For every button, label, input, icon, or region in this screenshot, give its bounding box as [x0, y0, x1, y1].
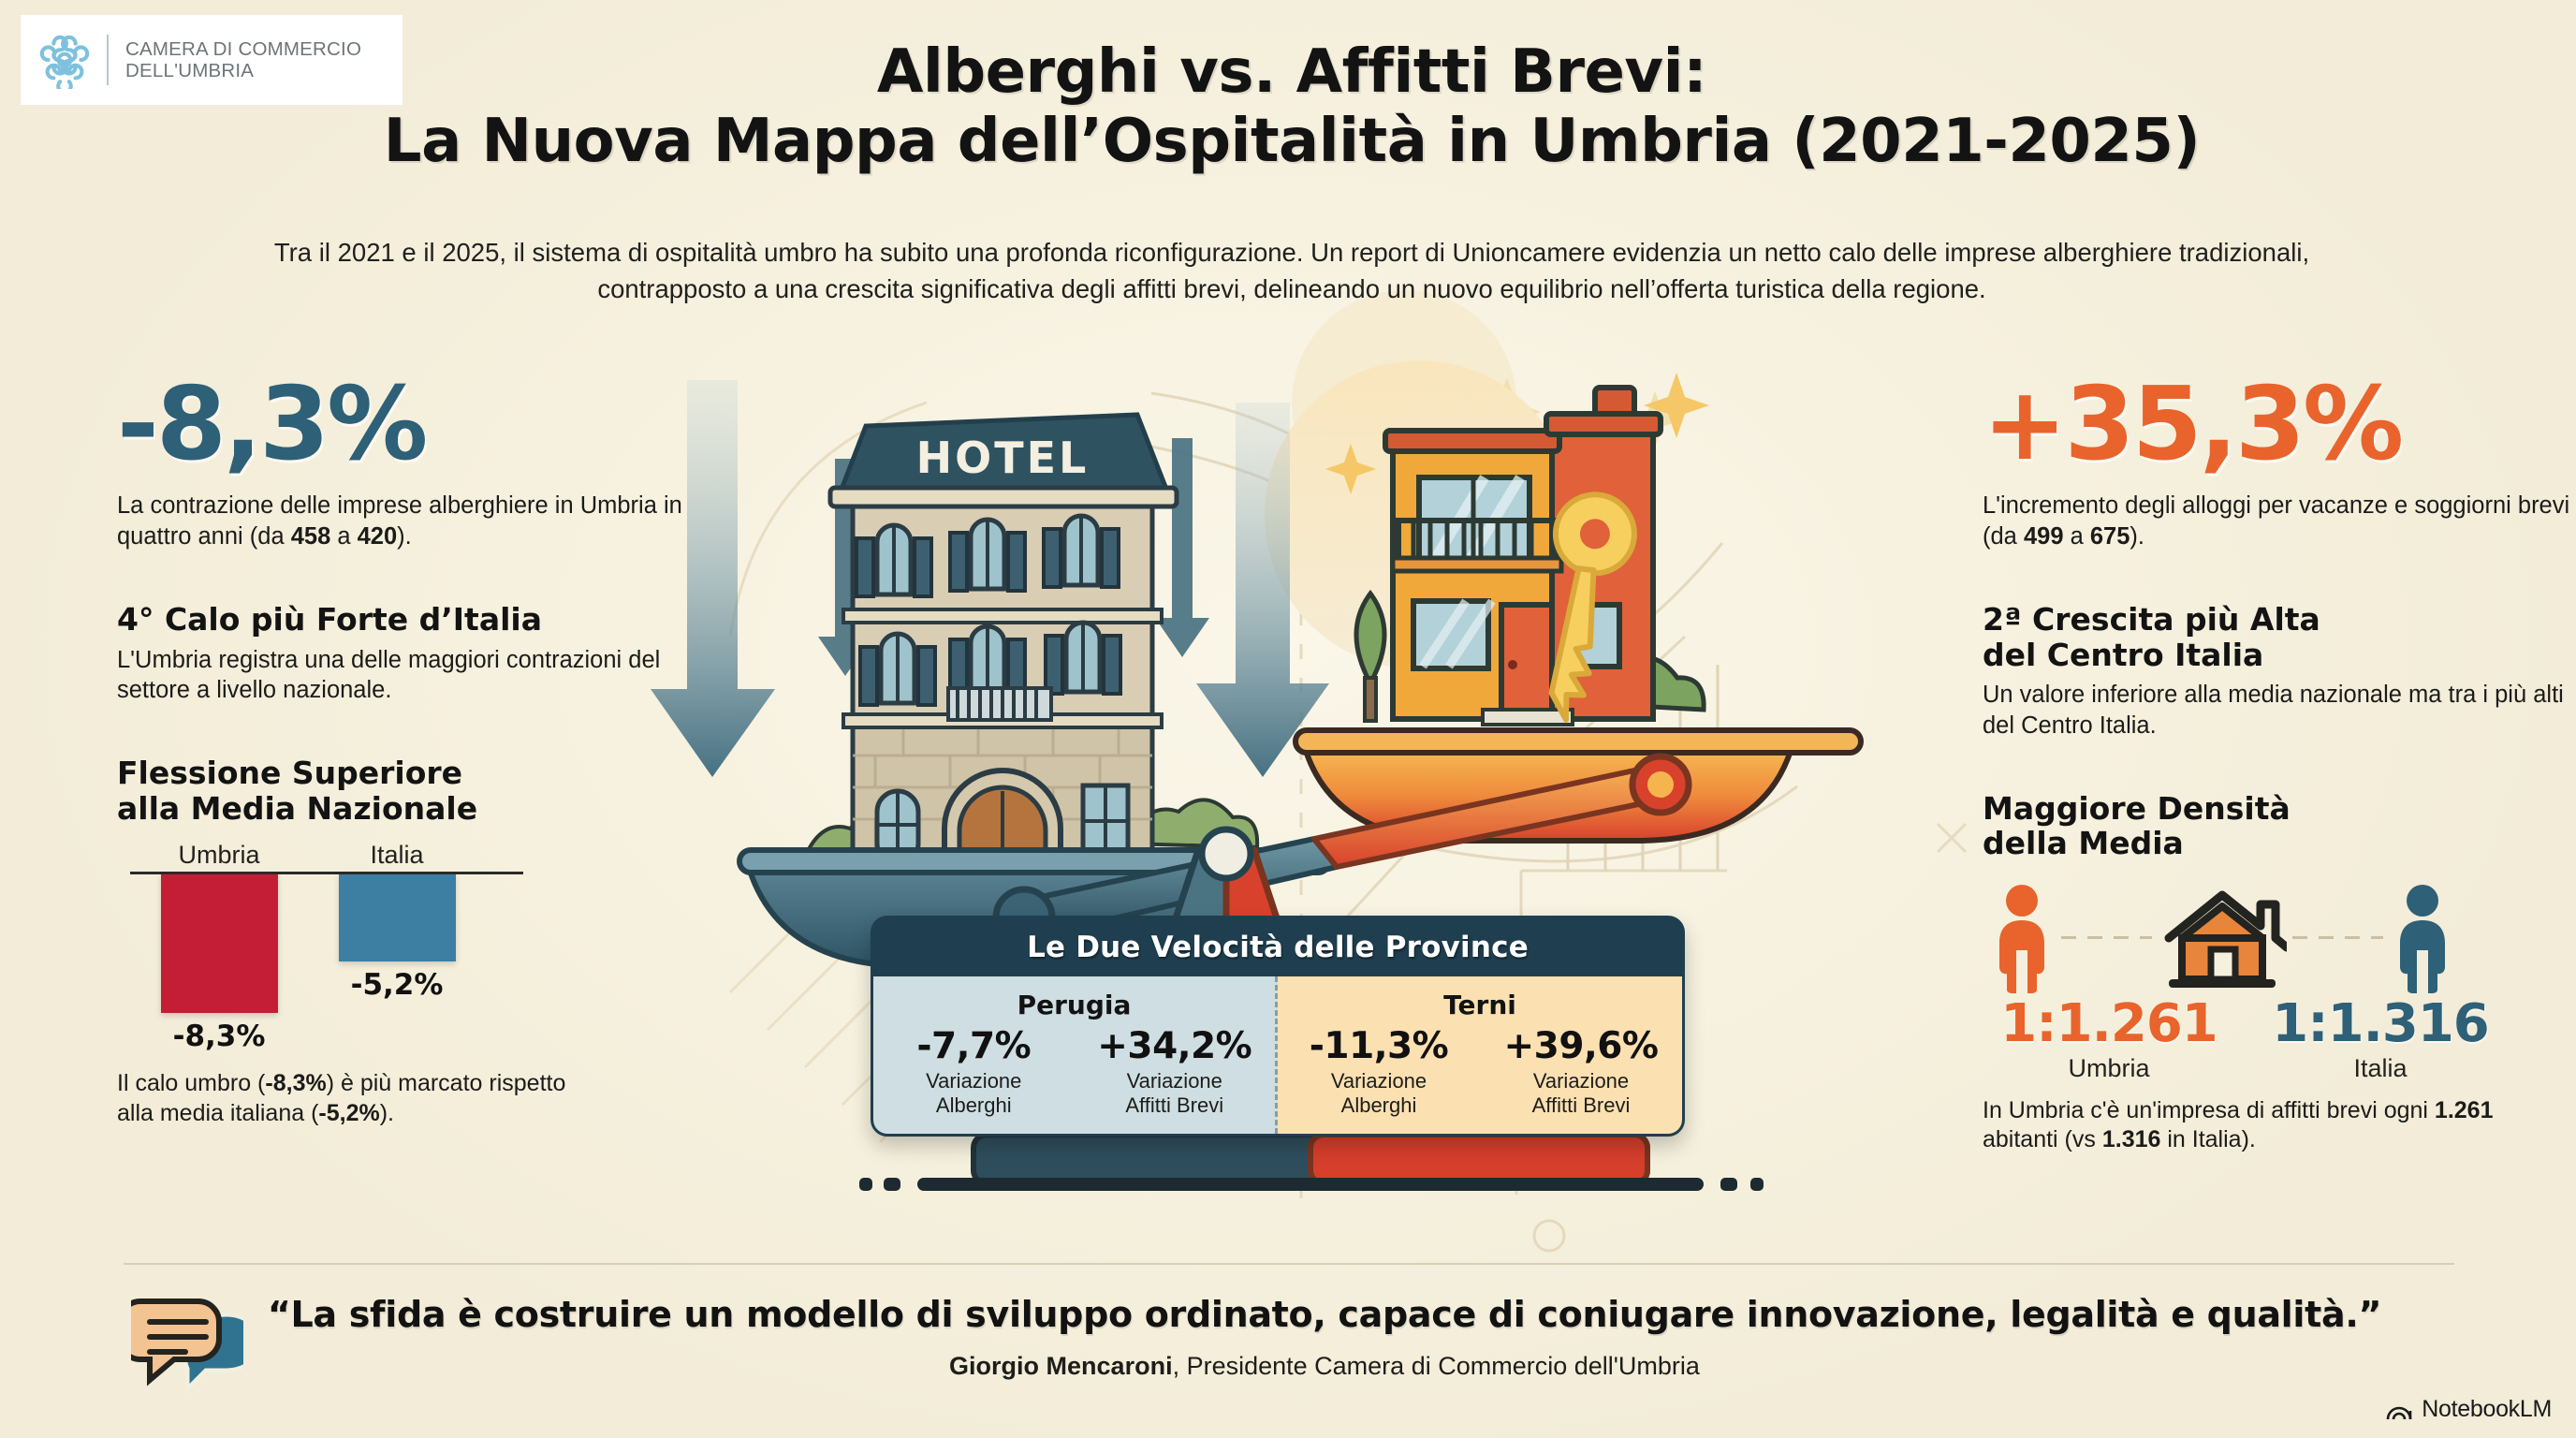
perugia-affitti-metric: +34,2% VariazioneAffitti Brevi	[1075, 1028, 1276, 1117]
left-headline-stat: -8,3%	[117, 374, 716, 476]
province-terni-metrics: -11,3% VariazioneAlberghi +39,6% Variazi…	[1278, 1028, 1682, 1117]
title-line-2: La Nuova Mappa dell’Ospitalità in Umbria…	[281, 107, 2303, 176]
person-icon	[2389, 883, 2456, 993]
speech-bubbles-icon	[131, 1294, 243, 1395]
province-comparison-panel: Le Due Velocità delle Province Perugia -…	[871, 916, 1685, 1137]
person-icon	[1988, 883, 2056, 993]
quote-attribution: Giorgio Mencaroni, Presidente Camera di …	[253, 1352, 2396, 1381]
right-headline-stat: +35,3%	[1983, 374, 2576, 476]
terni-alberghi-value: -11,3%	[1278, 1028, 1480, 1064]
right-headline-caption: L'incremento degli alloggi per vacanze e…	[1983, 491, 2576, 551]
density-values-row: 1:1.261 Umbria 1:1.316 Italia	[1983, 998, 2507, 1083]
terni-alberghi-label: VariazioneAlberghi	[1278, 1069, 1480, 1117]
left-column: -8,3% La contrazione delle imprese alber…	[117, 374, 716, 1128]
density-icon-row	[1988, 882, 2456, 994]
hotel-sign-text: HOTEL	[916, 433, 1090, 483]
province-panel-title: Le Due Velocità delle Province	[873, 918, 1682, 976]
page-subtitle: Tra il 2021 e il 2025, il sistema di osp…	[206, 234, 2378, 307]
terni-alberghi-metric: -11,3% VariazioneAlberghi	[1278, 1028, 1480, 1117]
right-block-density: Maggiore Densitàdella Media	[1983, 791, 2576, 1155]
logo-divider	[107, 35, 109, 85]
left-block-ranking: 4° Calo più Forte d’Italia L'Umbria regi…	[117, 602, 716, 705]
left-block-chart: Flessione Superiorealla Media Nazionale …	[117, 756, 716, 1128]
title-line-1: Alberghi vs. Affitti Brevi:	[281, 37, 2303, 107]
bar-group-umbria: -8,3%	[130, 874, 308, 1062]
perugia-alberghi-metric: -7,7% VariazioneAlberghi	[873, 1028, 1075, 1117]
left-block-chart-title: Flessione Superiorealla Media Nazionale	[117, 756, 716, 826]
bar-value-umbria: -8,3%	[173, 1020, 266, 1053]
density-note: In Umbria c'è un'impresa di affitti brev…	[1983, 1096, 2544, 1155]
footer-divider	[124, 1263, 2454, 1265]
bar-chart-note: Il calo umbro (-8,3%) è più marcato risp…	[117, 1069, 604, 1128]
flessione-bar-chart: Umbria Italia -8,3% -5,2%	[117, 841, 557, 1062]
bar-value-italia: -5,2%	[351, 968, 444, 1002]
left-headline-caption: La contrazione delle imprese alberghiere…	[117, 491, 716, 551]
right-block-density-title: Maggiore Densitàdella Media	[1983, 791, 2576, 861]
density-italia-value: 1:1.316	[2254, 998, 2507, 1050]
right-block-ranking-title: 2ª Crescita più Altadel Centro Italia	[1983, 602, 2576, 672]
terni-affitti-label: VariazioneAffitti Brevi	[1480, 1069, 1682, 1117]
bar-italia	[339, 874, 456, 961]
left-block-ranking-title: 4° Calo più Forte d’Italia	[117, 602, 716, 638]
page-title: Alberghi vs. Affitti Brevi: La Nuova Map…	[281, 37, 2303, 176]
house-icon	[2158, 882, 2287, 994]
perugia-affitti-value: +34,2%	[1075, 1028, 1276, 1064]
notebooklm-watermark: NotebookLM	[2385, 1396, 2552, 1423]
umbria-knot-logo-icon	[36, 31, 94, 89]
perugia-alberghi-label: VariazioneAlberghi	[873, 1069, 1075, 1117]
province-perugia-name: Perugia	[873, 990, 1275, 1020]
left-block-ranking-text: L'Umbria registra una delle maggiori con…	[117, 645, 716, 705]
pull-quote: “La sfida è costruire un modello di svil…	[253, 1294, 2396, 1335]
density-umbria: 1:1.261 Umbria	[1983, 998, 2235, 1083]
bar-chart-category-labels: Umbria Italia	[130, 841, 523, 870]
notebooklm-icon	[2385, 1398, 2413, 1422]
density-connector-left	[2061, 936, 2152, 939]
bar-group-italia: -5,2%	[308, 874, 486, 1062]
bar-umbria	[161, 874, 278, 1013]
right-block-ranking: 2ª Crescita più Altadel Centro Italia Un…	[1983, 602, 2576, 740]
province-terni-name: Terni	[1278, 990, 1682, 1020]
density-italia-label: Italia	[2254, 1054, 2507, 1083]
province-panel-body: Perugia -7,7% VariazioneAlberghi +34,2% …	[873, 976, 1682, 1134]
right-column: +35,3% L'incremento degli alloggi per va…	[1983, 374, 2576, 1155]
hotel-balcony	[948, 688, 1051, 720]
density-umbria-label: Umbria	[1983, 1054, 2235, 1083]
density-italia: 1:1.316 Italia	[2254, 998, 2507, 1083]
perugia-alberghi-value: -7,7%	[873, 1028, 1075, 1064]
province-perugia-metrics: -7,7% VariazioneAlberghi +34,2% Variazio…	[873, 1028, 1275, 1117]
bar-label-italia: Italia	[308, 841, 486, 870]
bar-chart-bars: -8,3% -5,2%	[130, 874, 523, 1062]
density-figure: 1:1.261 Umbria 1:1.316 Italia In Umbria …	[1983, 882, 2525, 1155]
province-perugia: Perugia -7,7% VariazioneAlberghi +34,2% …	[873, 976, 1278, 1134]
notebooklm-label: NotebookLM	[2422, 1396, 2552, 1423]
terni-affitti-value: +39,6%	[1480, 1028, 1682, 1064]
province-terni: Terni -11,3% VariazioneAlberghi +39,6% V…	[1278, 976, 1682, 1134]
bar-label-umbria: Umbria	[130, 841, 308, 870]
right-block-ranking-text: Un valore inferiore alla media nazionale…	[1983, 680, 2576, 740]
terni-affitti-metric: +39,6% VariazioneAffitti Brevi	[1480, 1028, 1682, 1117]
density-umbria-value: 1:1.261	[1983, 998, 2235, 1050]
density-connector-right	[2292, 936, 2383, 939]
perugia-affitti-label: VariazioneAffitti Brevi	[1075, 1069, 1276, 1117]
